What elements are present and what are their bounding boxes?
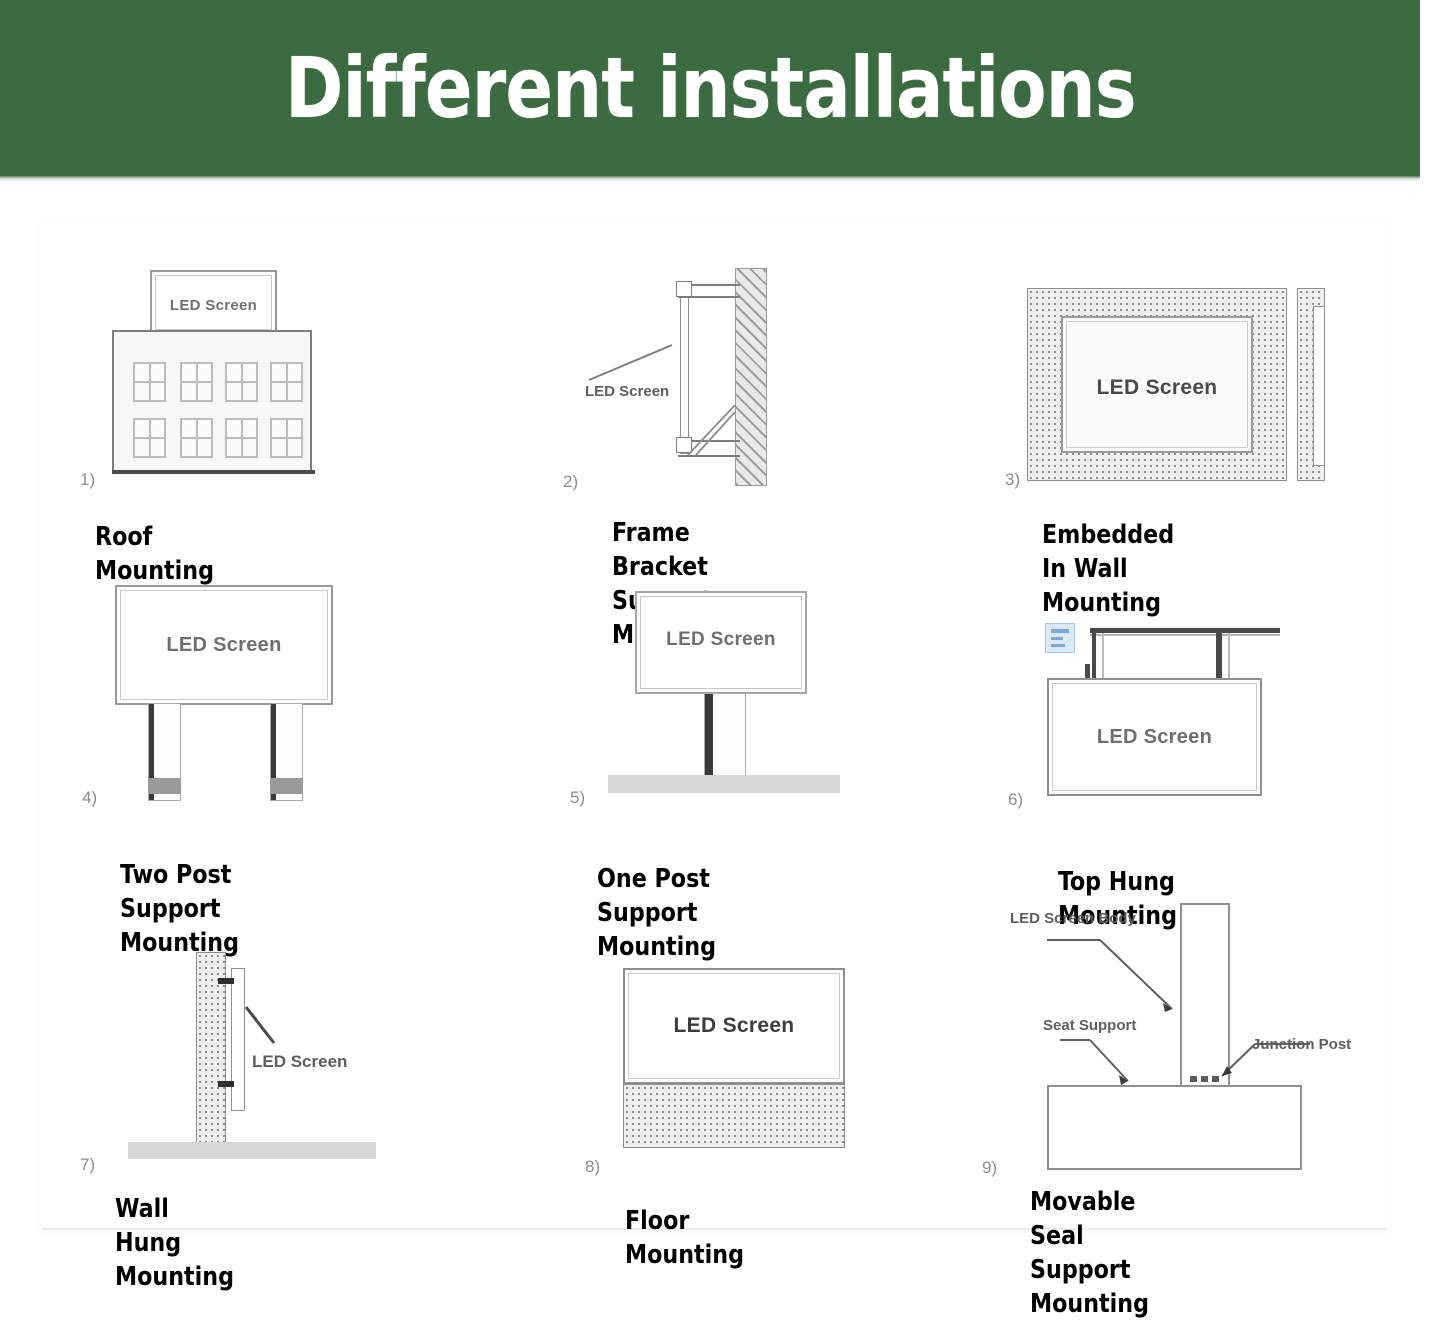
annotation-junction-post: Junction Post bbox=[1252, 1036, 1351, 1053]
callout-leader-lines bbox=[0, 0, 1433, 1300]
item-number-9: 9) bbox=[982, 1158, 997, 1178]
annotation-led-screen-body: LED Screen Body bbox=[1010, 910, 1136, 927]
installations-grid: LED Screen 1) Roof Mounting bbox=[0, 0, 1433, 1300]
annotation-seat-support: Seat Support bbox=[1043, 1017, 1136, 1034]
caption-9: Movable Seal Support Mounting bbox=[1030, 1185, 1149, 1321]
